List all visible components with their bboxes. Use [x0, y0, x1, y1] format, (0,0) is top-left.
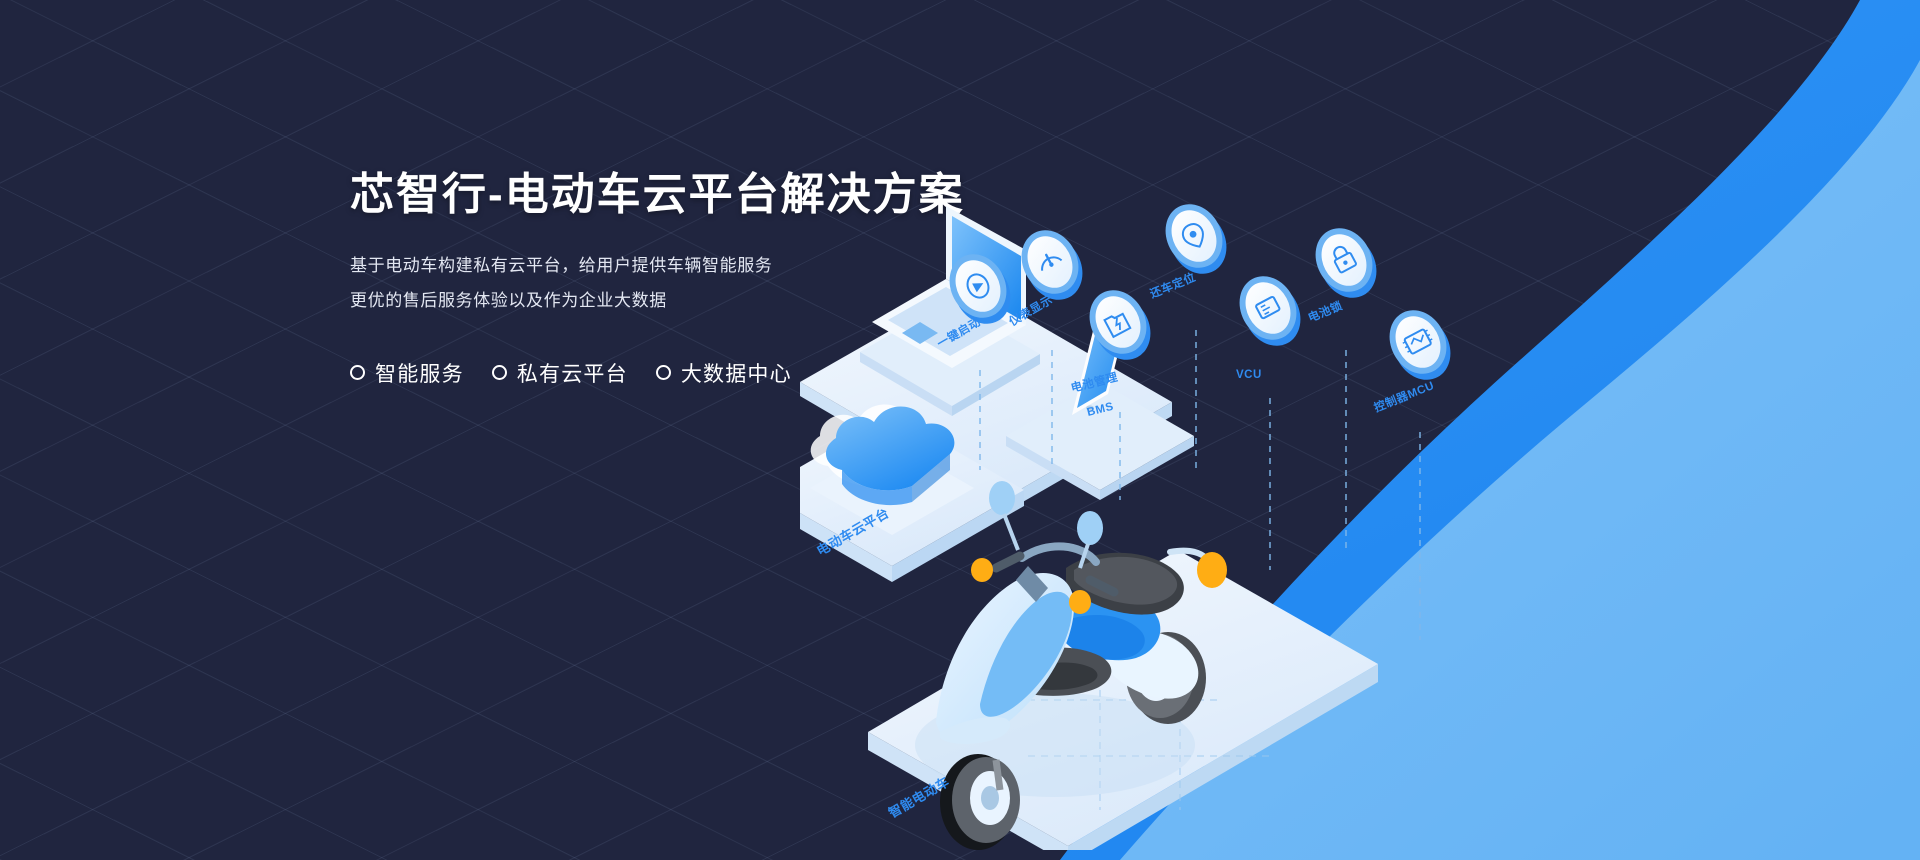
hero-banner: 芯智行-电动车云平台解决方案 基于电动车构建私有云平台，给用户提供车辆智能服务 …	[0, 0, 1920, 860]
ring-bullet-icon	[350, 365, 365, 380]
scooter-mirror-right	[1077, 511, 1103, 545]
scooter-front-fork	[996, 760, 1000, 790]
bullet-label: 智能服务	[375, 358, 464, 388]
isometric-illustration: 终端设备	[800, 170, 1800, 850]
scooter-mirror-left	[989, 481, 1015, 515]
ring-bullet-icon	[492, 365, 507, 380]
bullet-item-smart-service[interactable]: 智能服务	[350, 358, 464, 388]
ring-bullet-icon	[656, 365, 671, 380]
bullet-label: 大数据中心	[681, 358, 792, 388]
scooter-indicator-left	[971, 558, 993, 582]
badge-controller-mcu[interactable]: 控制器MCU	[1372, 300, 1461, 640]
scooter-tail-light	[1197, 552, 1227, 588]
badge-label: 电池锁	[1306, 298, 1345, 324]
scooter-grip-left	[996, 556, 1020, 568]
badge-label: 控制器MCU	[1372, 378, 1436, 415]
badge-vcu[interactable]: VCU	[1229, 266, 1312, 570]
scooter-mirror-stem-left	[1004, 514, 1018, 550]
bullet-item-big-data[interactable]: 大数据中心	[656, 358, 792, 388]
bullet-label: 私有云平台	[517, 358, 628, 388]
badge-battery-lock[interactable]: 电池锁	[1305, 218, 1388, 550]
badge-label: 还车定位	[1147, 270, 1198, 301]
badge-label: VCU	[1236, 369, 1262, 381]
bullet-item-private-cloud[interactable]: 私有云平台	[492, 358, 628, 388]
scooter-front-wheel	[940, 754, 1020, 850]
scooter-indicator-right	[1069, 590, 1091, 614]
